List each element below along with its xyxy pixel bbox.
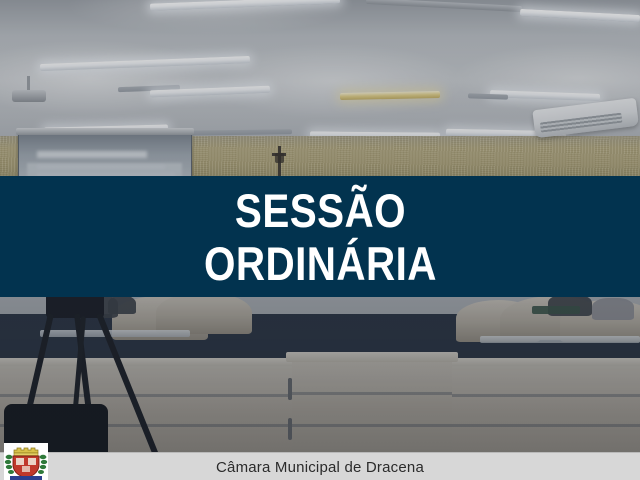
- desk-papers: [532, 306, 580, 314]
- crucifix-icon: [272, 146, 286, 176]
- session-title-banner: SESSÃO ORDINÁRIA: [0, 176, 640, 297]
- podium-stripe-1: [292, 392, 452, 395]
- seated-person-4: [592, 298, 634, 320]
- session-title-line-2: ORDINÁRIA: [204, 237, 437, 290]
- desk-glass-2: [480, 336, 640, 343]
- bench-stripe-r1: [448, 394, 640, 397]
- podium-handle-2: [288, 418, 292, 440]
- video-frame: SESSÃO ORDINÁRIA Câmara Municipal de Dra…: [0, 0, 640, 480]
- podium-stripe-2: [292, 424, 452, 427]
- bench-handle-right: [288, 378, 292, 400]
- council-desk-curve-2: [156, 292, 252, 334]
- podium-top: [286, 352, 458, 362]
- coat-of-arms-icon: [4, 443, 48, 480]
- institution-name: Câmara Municipal de Dracena: [0, 459, 640, 476]
- ceiling-projector: [12, 88, 46, 104]
- bench-stripe-r2: [448, 424, 640, 427]
- institution-bar: Câmara Municipal de Dracena: [0, 452, 640, 480]
- session-title-line-1: SESSÃO: [234, 184, 405, 237]
